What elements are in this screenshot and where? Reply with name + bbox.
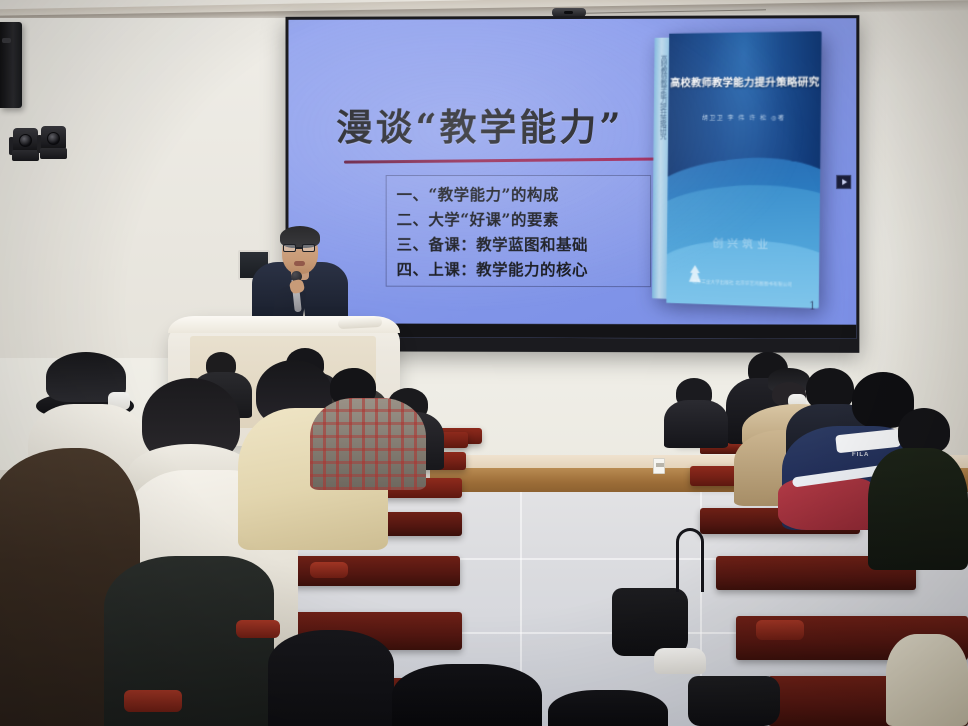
book-authors: 胡卫卫 李 伟 许 松 ◎著 xyxy=(668,113,821,122)
bag-strap xyxy=(676,528,704,592)
book-cover-image: 高校教师教学能力提升策略研究 高校教师教学能力提升策略研究 胡卫卫 李 伟 许 … xyxy=(652,31,822,308)
slide-outline-item-4: 四、上课：教学能力的核心 xyxy=(397,257,642,282)
student-head xyxy=(268,630,394,726)
student-body xyxy=(664,400,728,448)
student-dark-sweater xyxy=(868,448,968,570)
student-head xyxy=(548,690,668,726)
slide-title: 漫谈“教学能力” xyxy=(336,97,624,151)
camera-lens-icon xyxy=(47,132,60,145)
book-front-cover: 高校教师教学能力提升策略研究 胡卫卫 李 伟 许 松 ◎著 创兴筑业 北京工业大… xyxy=(666,31,821,308)
slide-surface: 漫谈“教学能力” 一、“教学能力”的构成 二、大学“好课”的要素 三、备课：教学… xyxy=(288,18,856,339)
speaker-mount xyxy=(2,38,11,43)
wall-panel-left xyxy=(0,18,286,358)
white-sneaker xyxy=(654,648,706,674)
sweater-red-panel xyxy=(778,478,874,530)
bench-armrest xyxy=(310,562,348,578)
student-plaid-shirt xyxy=(310,398,426,490)
camera-lens-icon xyxy=(19,134,32,147)
bench-armrest xyxy=(756,620,804,640)
book-title: 高校教师教学能力提升策略研究 xyxy=(669,74,822,90)
play-icon[interactable] xyxy=(836,175,851,189)
slide-divider-rule xyxy=(344,157,667,163)
ptz-camera-right xyxy=(40,126,67,159)
floor-grout xyxy=(430,632,780,634)
light-switch[interactable] xyxy=(653,458,665,474)
ptz-camera-left xyxy=(12,128,39,161)
brand-label: FILA xyxy=(852,452,869,458)
student-plaid-jacket xyxy=(886,634,968,726)
bench-armrest xyxy=(236,620,280,638)
backpack xyxy=(612,588,688,656)
backpack xyxy=(688,676,780,726)
slide-outline-box: 一、“教学能力”的构成 二、大学“好课”的要素 三、备课：教学蓝图和基础 四、上… xyxy=(386,175,651,287)
slide-outline-item-1: 一、“教学能力”的构成 xyxy=(397,182,642,207)
camera-head xyxy=(13,128,38,152)
bench-armrest xyxy=(124,690,182,712)
camera-base xyxy=(40,148,67,159)
slide-outline-item-3: 三、备课：教学蓝图和基础 xyxy=(397,232,642,257)
camera-base xyxy=(12,150,39,161)
lecture-hall-scene: 漫谈“教学能力” 一、“教学能力”的构成 二、大学“好课”的要素 三、备课：教学… xyxy=(0,0,968,726)
student-head xyxy=(392,664,542,726)
presenter-mouth xyxy=(294,261,305,266)
camera-head xyxy=(41,126,66,150)
presenter-glasses-left xyxy=(283,244,296,252)
sensor-lens-icon xyxy=(564,11,573,14)
projection-screen[interactable]: 漫谈“教学能力” 一、“教学能力”的构成 二、大学“好课”的要素 三、备课：教学… xyxy=(286,15,860,353)
presenter-glasses-bridge xyxy=(296,247,302,249)
wall-speaker xyxy=(0,22,22,108)
slide-outline-item-2: 二、大学“好课”的要素 xyxy=(397,207,642,232)
slide-page-number: 1 xyxy=(809,299,816,312)
presenter-glasses-right xyxy=(302,244,315,252)
